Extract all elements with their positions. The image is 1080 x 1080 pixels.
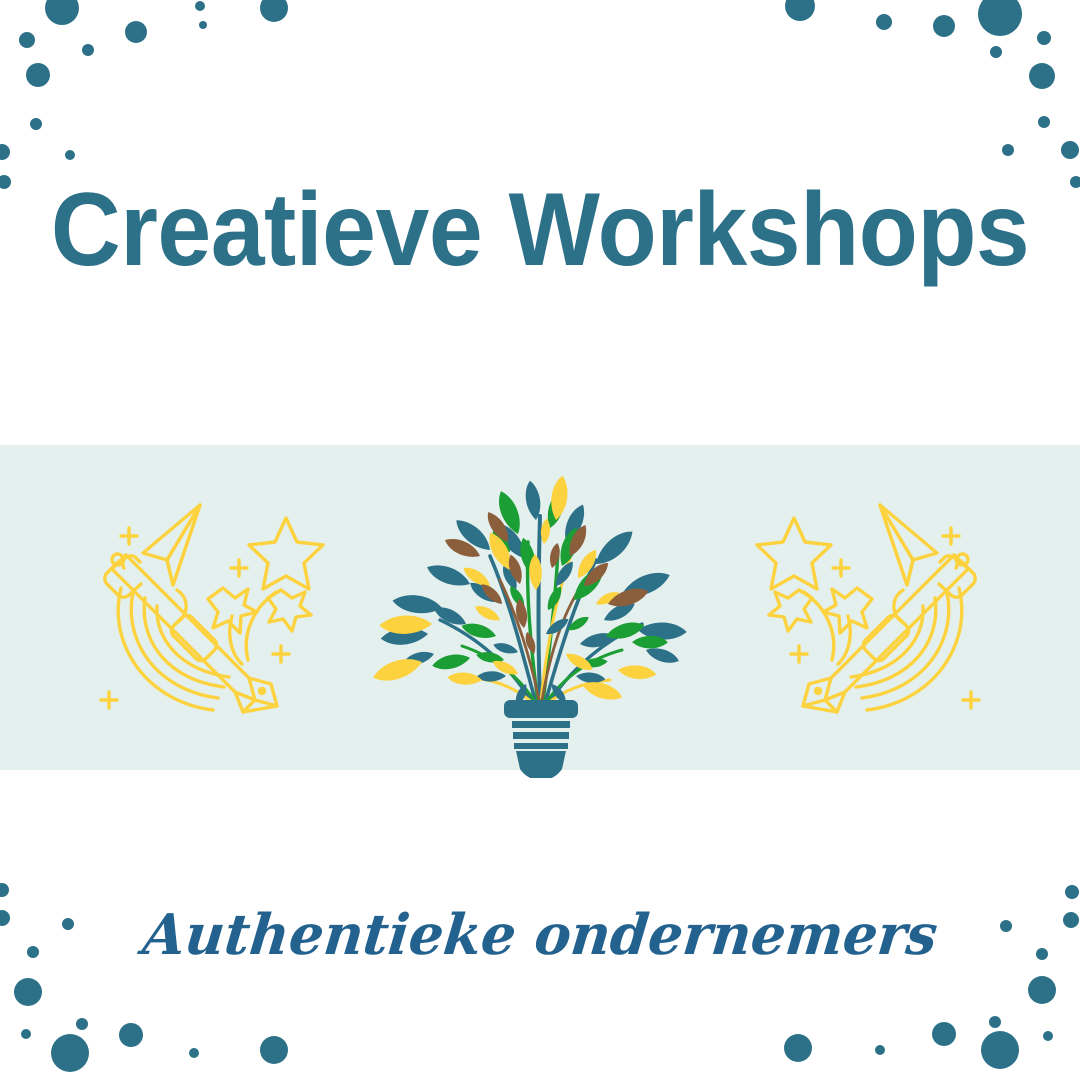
decorative-dot bbox=[981, 1031, 1019, 1069]
decorative-dot bbox=[45, 0, 79, 25]
decorative-dot bbox=[785, 0, 815, 21]
decorative-dot bbox=[82, 44, 94, 56]
decorative-dot bbox=[26, 63, 50, 87]
creative-pen-stars-icon bbox=[85, 488, 325, 728]
decorative-dot bbox=[932, 1022, 956, 1046]
artwork-band-inner bbox=[0, 445, 1080, 770]
decorative-dot bbox=[189, 1048, 199, 1058]
subtitle-area: Authentieke ondernemers bbox=[0, 880, 1080, 990]
decorative-dot bbox=[260, 0, 288, 22]
decorative-dot bbox=[784, 1034, 812, 1062]
decorative-dot bbox=[989, 1016, 1001, 1028]
decorative-dot bbox=[51, 1034, 89, 1072]
decorative-dot bbox=[1037, 31, 1051, 45]
decorative-dot bbox=[1038, 116, 1050, 128]
decorative-dot bbox=[125, 21, 147, 43]
decorative-dot bbox=[195, 1, 205, 11]
page-subtitle: Authentieke ondernemers bbox=[140, 907, 940, 963]
decorative-dot bbox=[933, 15, 955, 37]
decorative-dot bbox=[199, 21, 207, 29]
decorative-dot bbox=[1043, 1031, 1053, 1041]
decorative-dot bbox=[30, 118, 42, 130]
decorative-dot bbox=[19, 32, 35, 48]
decorative-dot bbox=[876, 14, 892, 30]
decorative-dot bbox=[990, 46, 1002, 58]
poster-canvas: Creatieve Workshops bbox=[0, 0, 1080, 1080]
decorative-dot bbox=[21, 1029, 31, 1039]
decorative-dot bbox=[76, 1018, 88, 1030]
decorative-dot bbox=[1029, 63, 1055, 89]
title-area: Creatieve Workshops bbox=[0, 150, 1080, 310]
decorative-dot bbox=[119, 1023, 143, 1047]
page-title: Creatieve Workshops bbox=[51, 178, 1029, 282]
creative-pen-stars-icon-mirrored bbox=[755, 488, 995, 728]
decorative-dot bbox=[875, 1045, 885, 1055]
decorative-dot bbox=[260, 1036, 288, 1064]
artwork-band bbox=[0, 445, 1080, 770]
decorative-dot bbox=[978, 0, 1022, 36]
lightbulb-foliage-icon bbox=[370, 438, 710, 778]
